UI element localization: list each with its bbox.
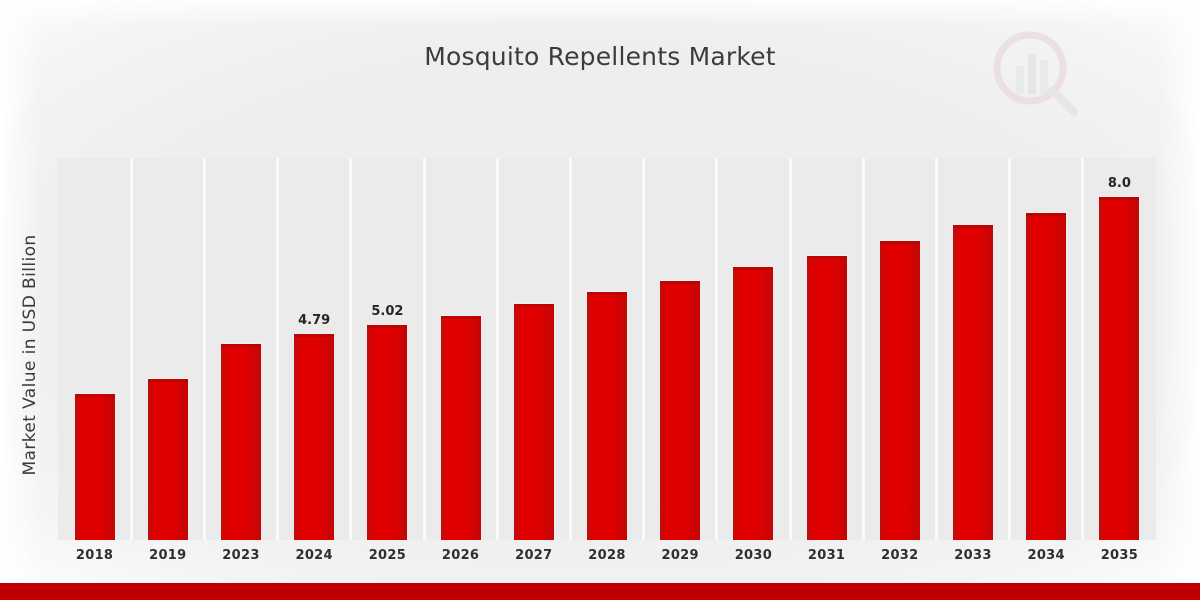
x-tick-2025: 2025 xyxy=(352,548,422,563)
bar-2028 xyxy=(587,292,627,540)
bar-2031 xyxy=(807,256,847,540)
bar-value-label-2025: 5.02 xyxy=(352,304,422,319)
bar-2035 xyxy=(1099,197,1139,540)
bar-2023 xyxy=(221,344,261,540)
grid-separator xyxy=(789,158,792,540)
chart-canvas: Mosquito Repellents Market Market Value … xyxy=(0,0,1200,600)
x-tick-2030: 2030 xyxy=(718,548,788,563)
grid-separator xyxy=(715,158,718,540)
grid-separator xyxy=(935,158,938,540)
grid-separator xyxy=(423,158,426,540)
bar-2032 xyxy=(880,241,920,540)
grid-separator xyxy=(349,158,352,540)
grid-separator xyxy=(130,158,133,540)
x-tick-2023: 2023 xyxy=(206,548,276,563)
x-tick-2031: 2031 xyxy=(792,548,862,563)
watermark-logo-icon xyxy=(988,26,1084,122)
x-tick-2024: 2024 xyxy=(279,548,349,563)
x-tick-2028: 2028 xyxy=(572,548,642,563)
x-tick-2029: 2029 xyxy=(645,548,715,563)
grid-separator xyxy=(1081,158,1084,540)
bar-2034 xyxy=(1026,213,1066,540)
x-tick-2035: 2035 xyxy=(1084,548,1154,563)
x-tick-2032: 2032 xyxy=(865,548,935,563)
bar-2029 xyxy=(660,281,700,540)
bar-2033 xyxy=(953,225,993,540)
y-axis-label: Market Value in USD Billion xyxy=(20,145,40,565)
grid-separator xyxy=(642,158,645,540)
grid-separator xyxy=(496,158,499,540)
x-tick-2026: 2026 xyxy=(426,548,496,563)
x-tick-2033: 2033 xyxy=(938,548,1008,563)
x-tick-2018: 2018 xyxy=(60,548,130,563)
bar-2027 xyxy=(514,304,554,540)
grid-separator xyxy=(1008,158,1011,540)
grid-separator xyxy=(203,158,206,540)
bar-2025 xyxy=(367,325,407,540)
bar-2026 xyxy=(441,316,481,540)
grid-separator xyxy=(276,158,279,540)
bar-2018 xyxy=(75,394,115,540)
grid-separator xyxy=(569,158,572,540)
bar-2019 xyxy=(148,379,188,540)
x-tick-2027: 2027 xyxy=(499,548,569,563)
bar-value-label-2024: 4.79 xyxy=(279,313,349,328)
bar-2024 xyxy=(294,334,334,540)
bottom-accent-bar xyxy=(0,583,1200,600)
bar-value-label-2035: 8.0 xyxy=(1084,176,1154,191)
x-tick-2034: 2034 xyxy=(1011,548,1081,563)
bar-2030 xyxy=(733,267,773,540)
x-tick-2019: 2019 xyxy=(133,548,203,563)
grid-separator xyxy=(862,158,865,540)
